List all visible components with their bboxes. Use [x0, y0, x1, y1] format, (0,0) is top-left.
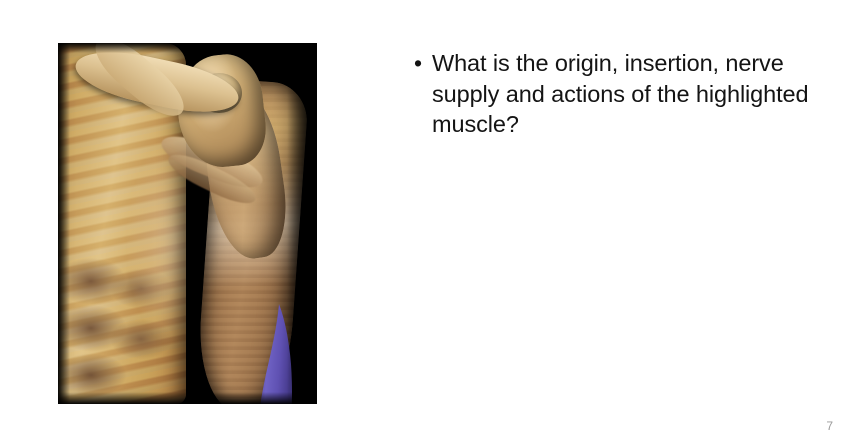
bullet-list-item: • What is the origin, insertion, nerve s… — [414, 48, 834, 140]
slide-number: 7 — [826, 419, 833, 433]
slide-canvas: • What is the origin, insertion, nerve s… — [0, 0, 849, 440]
anatomy-photo[interactable] — [58, 43, 317, 404]
question-text: What is the origin, insertion, nerve sup… — [432, 48, 834, 140]
content-placeholder[interactable]: • What is the origin, insertion, nerve s… — [414, 48, 834, 140]
highlighted-muscle — [255, 304, 301, 404]
photo-background — [58, 43, 317, 404]
bullet-marker-icon: • — [414, 48, 432, 78]
